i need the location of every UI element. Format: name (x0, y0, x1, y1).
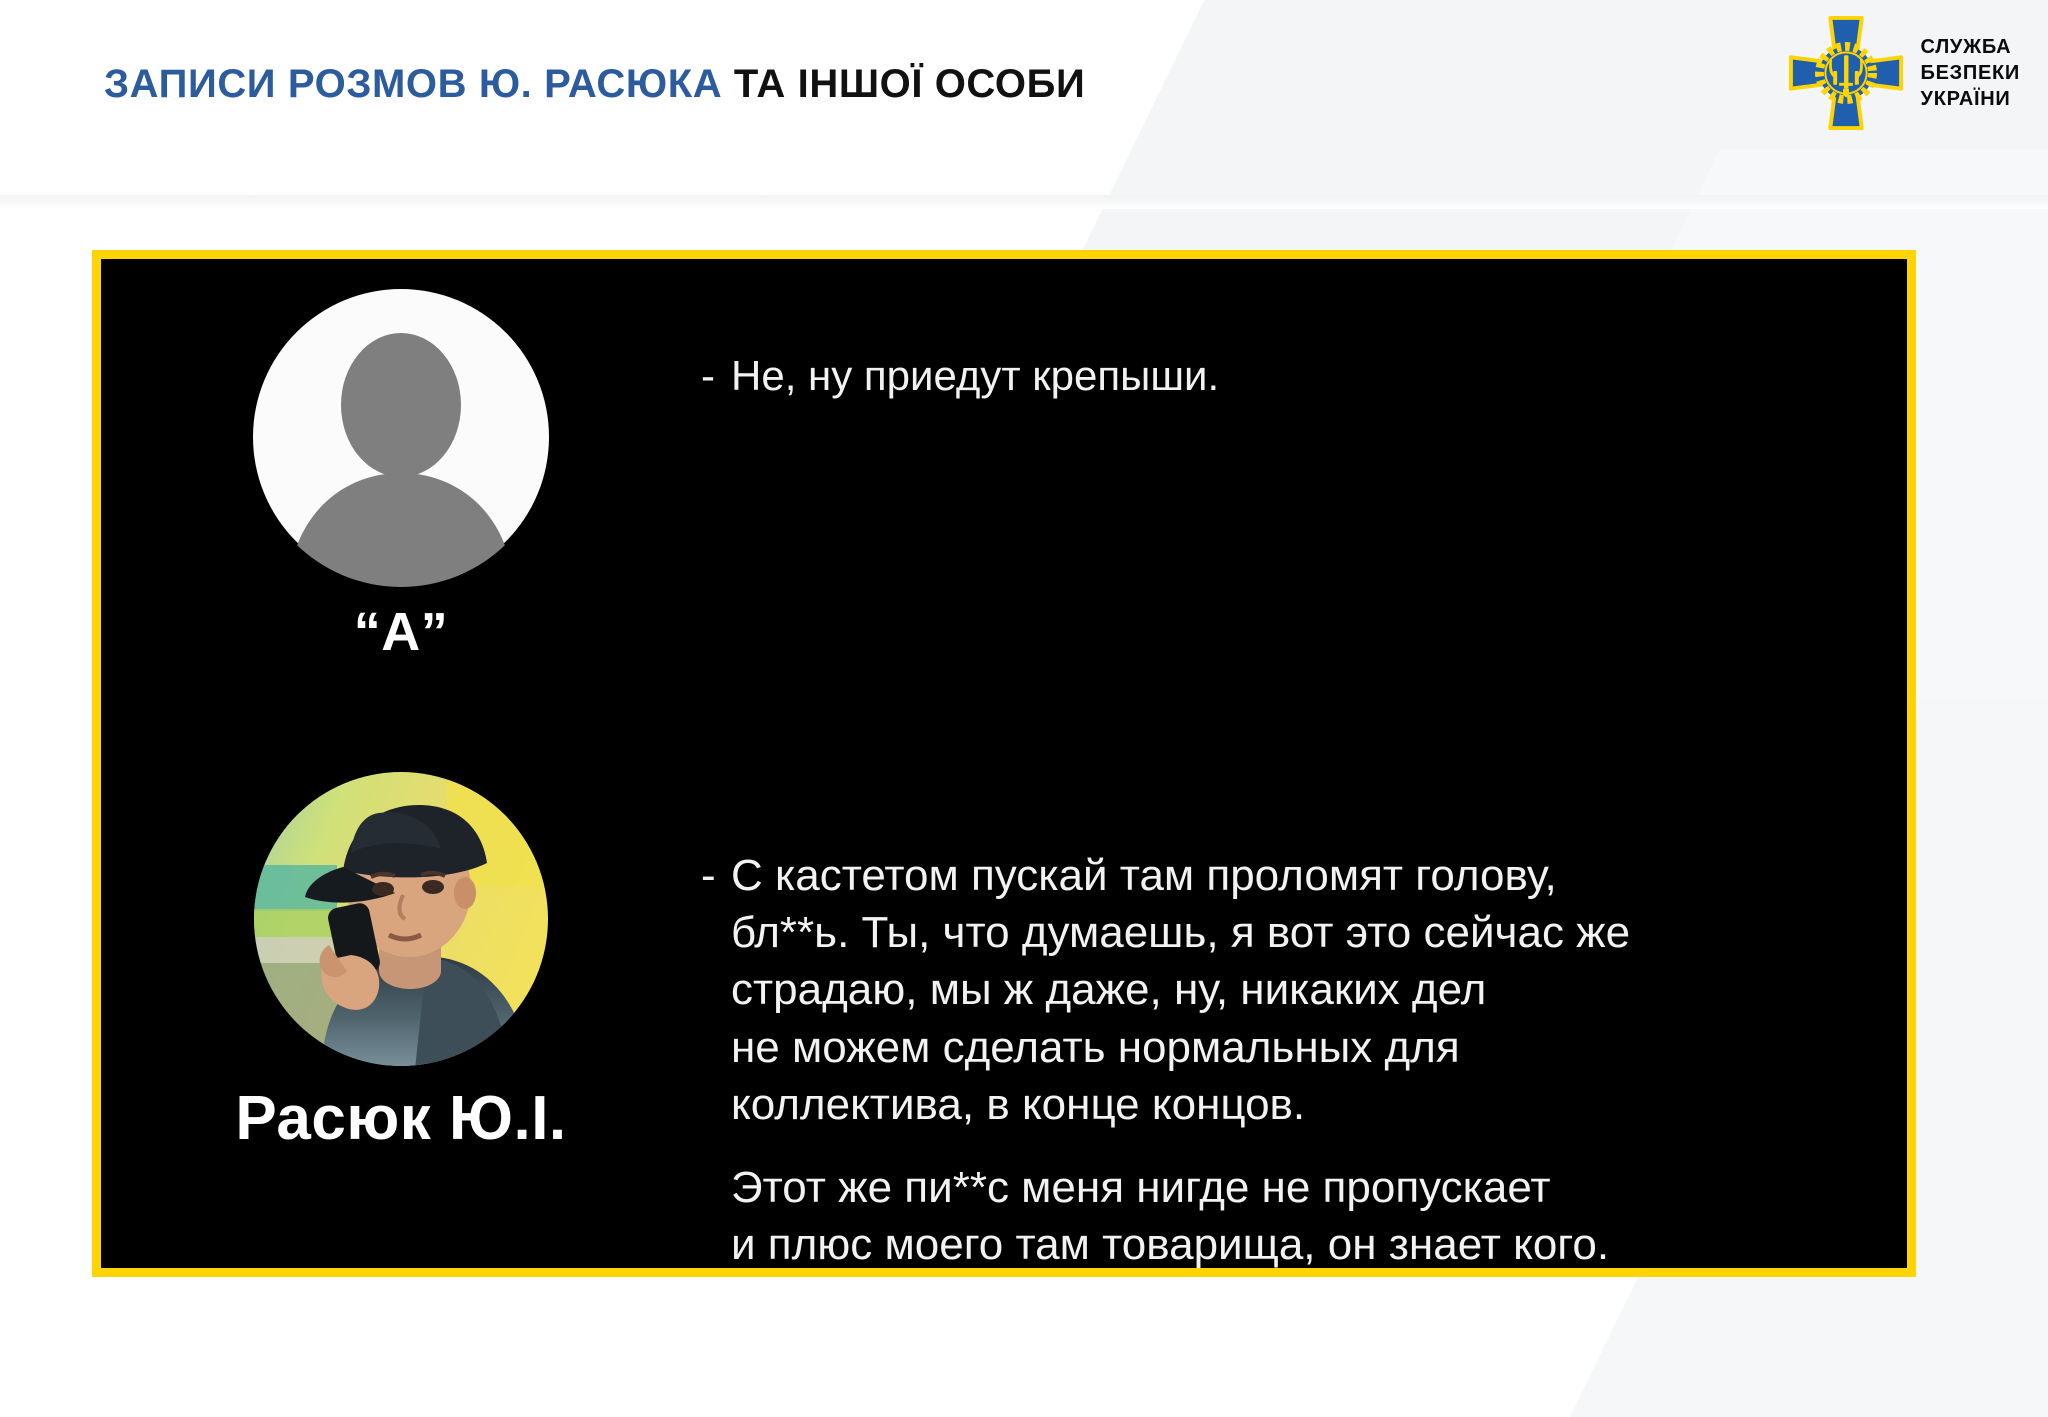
quote-line: Не, ну приедут крепыши. (731, 349, 1867, 404)
quote-text-a: Не, ну приедут крепыши. (731, 349, 1867, 404)
quote-text-b: С кастетом пускай там проломят голову, б… (731, 847, 1867, 1268)
quote-line: страдаю, мы ж даже, ну, никаких дел (731, 961, 1867, 1018)
quote-block-b: - С кастетом пускай там проломят голову,… (701, 847, 1907, 1268)
slide-root: ЗАПИСИ РОЗМОВ Ю. РАСЮКА ТА ІНШОЇ ОСОБИ (0, 0, 2048, 1417)
speaker-name-a: “A” (354, 601, 449, 663)
sbu-cross-emblem-icon (1787, 14, 1905, 132)
quote-line: Этот же пи**с меня нигде не пропускает (731, 1159, 1867, 1216)
sbu-logo-line-1: СЛУЖБА (1921, 34, 2020, 60)
slide-header: ЗАПИСИ РОЗМОВ Ю. РАСЮКА ТА ІНШОЇ ОСОБИ (0, 0, 2048, 196)
photo-rasiuk-portrait-icon (251, 769, 551, 1069)
page-title-plain: ТА ІНШОЇ ОСОБИ (734, 62, 1085, 106)
page-title-accent: ЗАПИСИ РОЗМОВ Ю. РАСЮКА (104, 62, 722, 106)
dialogue-row-speaker-a: “A” - Не, ну приедут крепыши. (101, 287, 1907, 663)
quote-line: бл**ь. Ты, что думаешь, я вот это сейчас… (731, 904, 1867, 961)
dialogue-row-speaker-b: Расюк Ю.І. - С кастетом пускай там проло… (101, 769, 1907, 1268)
sbu-logo-text: СЛУЖБА БЕЗПЕКИ УКРАЇНИ (1921, 34, 2020, 112)
quote-dash-b: - (701, 847, 731, 904)
sbu-logo-line-2: БЕЗПЕКИ (1921, 60, 2020, 86)
quote-dash-a: - (701, 349, 731, 404)
anonymous-person-silhouette-icon (251, 287, 551, 587)
quote-line: и плюс моего там товарища, он знает кого… (731, 1216, 1867, 1268)
transcript-panel: “A” - Не, ну приедут крепыши. (92, 250, 1916, 1277)
quote-line: коллектива, в конце концов. (731, 1076, 1867, 1133)
transcript-panel-inner: “A” - Не, ну приедут крепыши. (101, 259, 1907, 1268)
quote-line: С кастетом пускай там проломят голову, (731, 847, 1867, 904)
sbu-logo-line-3: УКРАЇНИ (1921, 86, 2020, 112)
speaker-block-b: Расюк Ю.І. (101, 769, 701, 1154)
background-divider-band (0, 195, 2048, 209)
speaker-name-b: Расюк Ю.І. (235, 1083, 566, 1154)
speaker-block-a: “A” (101, 287, 701, 663)
quote-block-a: - Не, ну приедут крепыши. (701, 349, 1907, 404)
page-title: ЗАПИСИ РОЗМОВ Ю. РАСЮКА ТА ІНШОЇ ОСОБИ (104, 62, 1085, 107)
quote-line: не можем сделать нормальных для (731, 1019, 1867, 1076)
sbu-logo: СЛУЖБА БЕЗПЕКИ УКРАЇНИ (1787, 14, 2020, 132)
